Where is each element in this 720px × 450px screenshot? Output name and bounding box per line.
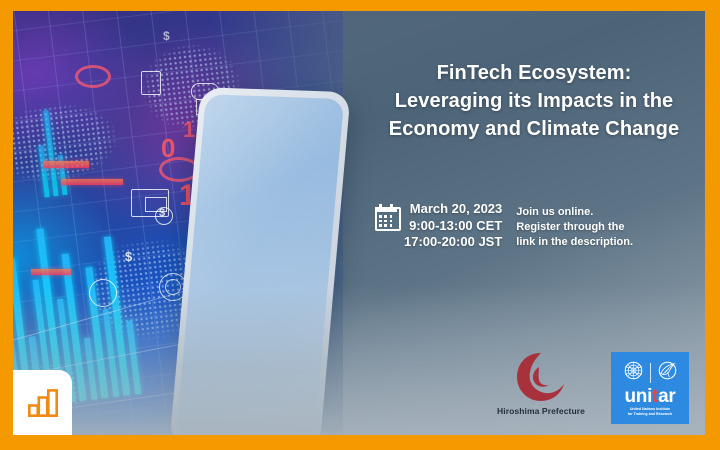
un-globe-emblem-icon: [622, 359, 645, 387]
join-line-2: Register through the: [516, 220, 633, 235]
unitar-divider: [650, 363, 651, 383]
unitar-bird-emblem-icon: [656, 359, 679, 387]
unitar-wordmark: unitar: [625, 387, 676, 406]
webinar-poster: $ $ $ 0 1 1 0 1 0 FinTech Ecosystem:: [0, 0, 720, 450]
unitar-logo: unitar United Nations Institute for Trai…: [611, 352, 689, 424]
event-time-cet: 9:00-13:00 CET: [404, 218, 502, 235]
event-time-jst: 17:00-20:00 JST: [404, 234, 502, 251]
title-line-3: Economy and Climate Change: [363, 115, 705, 143]
join-line-3: link in the description.: [516, 235, 633, 250]
hiroshima-label: Hiroshima Prefecture: [491, 406, 591, 416]
page-title: FinTech Ecosystem: Leveraging its Impact…: [363, 59, 705, 143]
event-date: March 20, 2023: [404, 201, 502, 218]
join-line-1: Join us online.: [516, 205, 633, 220]
unitar-subtitle: United Nations Institute for Training an…: [628, 407, 672, 416]
event-date-block: March 20, 2023 9:00-13:00 CET 17:00-20:0…: [375, 201, 502, 251]
event-datetime-text: March 20, 2023 9:00-13:00 CET 17:00-20:0…: [404, 201, 502, 251]
bottom-fade: [13, 285, 705, 435]
unitar-wordmark-pre: uni: [625, 386, 653, 407]
bar-chart-icon: [28, 389, 58, 417]
unitar-wordmark-post: ar: [658, 386, 675, 407]
registration-note: Join us online. Register through the lin…: [516, 205, 633, 251]
unitar-emblems: [622, 360, 679, 386]
unitar-subtitle-line-2: for Training and Research: [628, 412, 672, 417]
poster-canvas: $ $ $ 0 1 1 0 1 0 FinTech Ecosystem:: [13, 11, 705, 435]
title-line-1: FinTech Ecosystem:: [363, 59, 705, 87]
title-line-2: Leveraging its Impacts in the: [363, 87, 705, 115]
hiroshima-prefecture-logo: Hiroshima Prefecture: [491, 351, 591, 416]
unitar-subtitle-line-1: United Nations Institute: [628, 407, 672, 412]
bar-chart-badge: [13, 370, 72, 435]
crescent-moon-icon: [515, 351, 567, 403]
calendar-icon: [375, 204, 397, 227]
event-info-row: March 20, 2023 9:00-13:00 CET 17:00-20:0…: [375, 201, 705, 251]
